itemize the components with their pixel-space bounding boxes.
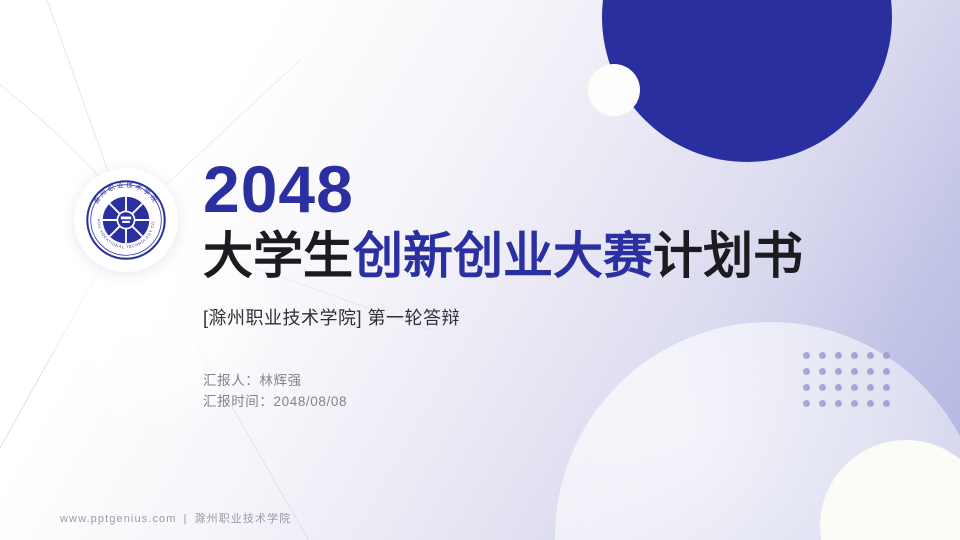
presentation-meta: 汇报人：林辉强 汇报时间：2048/08/08 [203,370,347,412]
footer: www.pptgenius.com|滁州职业技术学院 [60,510,291,526]
grid-dot [819,368,826,375]
presenter-line: 汇报人：林辉强 [203,370,347,391]
college-seal-icon: 滁州职业技术学院 CHUZHOU VOCATIONAL TECHNOLOGY C… [83,177,169,263]
footer-separator: | [184,513,188,525]
grid-dot [867,400,874,407]
grid-dot [803,368,810,375]
title-segment-accent: 创新创业大赛 [353,228,653,284]
grid-dot [851,384,858,391]
presentation-slide: 滁州职业技术学院 CHUZHOU VOCATIONAL TECHNOLOGY C… [0,0,960,540]
title-segment-trailing: 计划书 [653,228,803,284]
grid-dot [883,368,890,375]
grid-dot [851,368,858,375]
grid-dot [803,384,810,391]
grid-dot [835,368,842,375]
dot-grid-pattern [803,352,899,416]
grid-dot [867,352,874,359]
grid-dot [835,400,842,407]
title-segment-leading: 大学生 [203,228,353,284]
grid-dot [851,352,858,359]
circle-top-white-accent [588,64,640,116]
grid-dot [883,352,890,359]
grid-dot [803,400,810,407]
grid-dot [835,352,842,359]
title-year: 2048 [203,155,903,223]
university-logo: 滁州职业技术学院 CHUZHOU VOCATIONAL TECHNOLOGY C… [74,168,178,272]
grid-dot [867,384,874,391]
grid-dot [867,368,874,375]
subtitle: [滁州职业技术学院] 第一轮答辩 [203,305,460,331]
grid-dot [803,352,810,359]
title-block: 2048 大学生创新创业大赛计划书 [203,155,903,285]
grid-dot [819,384,826,391]
grid-dot [819,400,826,407]
grid-dot [835,384,842,391]
footer-organization: 滁州职业技术学院 [195,513,292,525]
grid-dot [883,400,890,407]
page-title: 大学生创新创业大赛计划书 [203,227,903,285]
grid-dot [851,400,858,407]
grid-dot [883,384,890,391]
date-line: 汇报时间：2048/08/08 [203,391,347,412]
footer-website: www.pptgenius.com [60,513,177,525]
grid-dot [819,352,826,359]
